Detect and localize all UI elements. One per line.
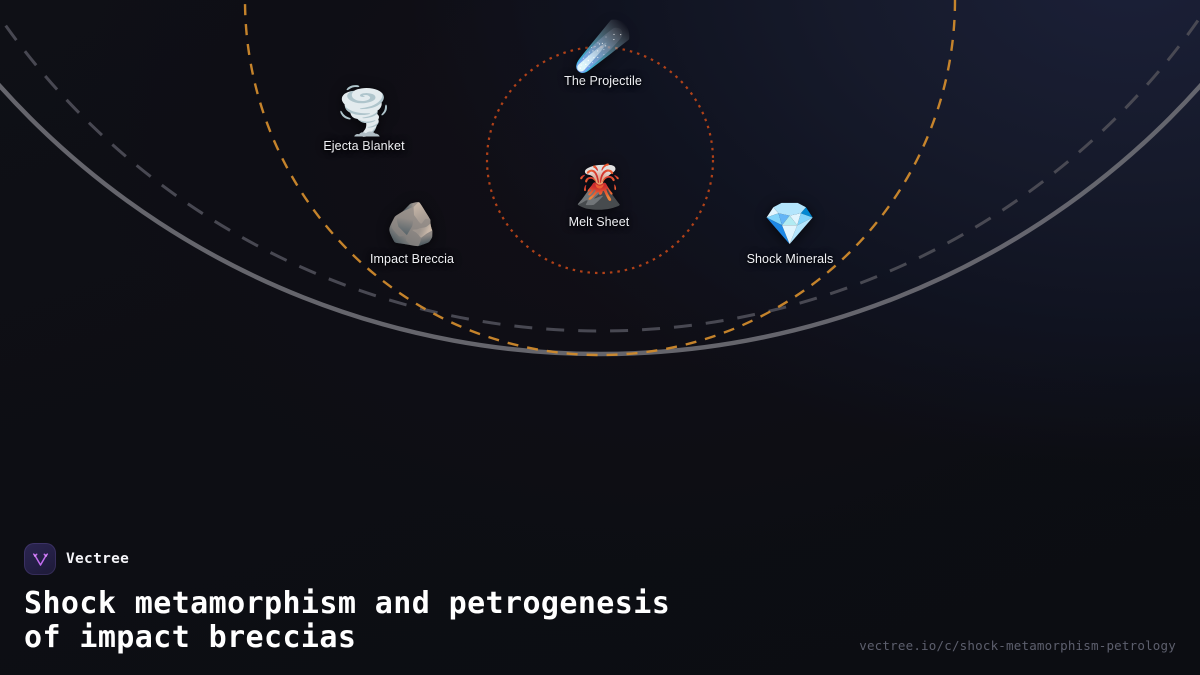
page-url: vectree.io/c/shock-metamorphism-petrolog… bbox=[859, 638, 1176, 653]
page-title: Shock metamorphism and petrogenesis of i… bbox=[24, 587, 824, 655]
brand-name: Vectree bbox=[66, 551, 129, 567]
diagram-node-label: Shock Minerals bbox=[700, 252, 880, 267]
diagram-node-label: Melt Sheet bbox=[509, 215, 689, 230]
vectree-branch-logo-icon bbox=[24, 543, 56, 575]
diagram-node-label: The Projectile bbox=[513, 74, 693, 89]
diagram-node-impact-breccia[interactable]: 🪨 Impact Breccia bbox=[322, 198, 502, 267]
diagram-node-label: Ejecta Blanket bbox=[274, 139, 454, 154]
slide-canvas: ☄️ The Projectile 🌪️ Ejecta Blanket 🌋 Me… bbox=[0, 0, 1200, 675]
volcano-icon: 🌋 bbox=[509, 161, 689, 213]
gem-stone-icon: 💎 bbox=[700, 198, 880, 250]
comet-icon: ☄️ bbox=[513, 20, 693, 72]
brand-lockup[interactable]: Vectree bbox=[24, 543, 1176, 575]
rock-icon: 🪨 bbox=[322, 198, 502, 250]
impact-crater-diagram: ☄️ The Projectile 🌪️ Ejecta Blanket 🌋 Me… bbox=[0, 0, 1200, 420]
slide-footer: Vectree Shock metamorphism and petrogene… bbox=[0, 543, 1200, 675]
diagram-node-label: Impact Breccia bbox=[322, 252, 502, 267]
diagram-node-projectile[interactable]: ☄️ The Projectile bbox=[513, 20, 693, 89]
diagram-node-shock-minerals[interactable]: 💎 Shock Minerals bbox=[700, 198, 880, 267]
diagram-node-ejecta-blanket[interactable]: 🌪️ Ejecta Blanket bbox=[274, 85, 454, 154]
diagram-node-melt-sheet[interactable]: 🌋 Melt Sheet bbox=[509, 161, 689, 230]
tornado-icon: 🌪️ bbox=[274, 85, 454, 137]
